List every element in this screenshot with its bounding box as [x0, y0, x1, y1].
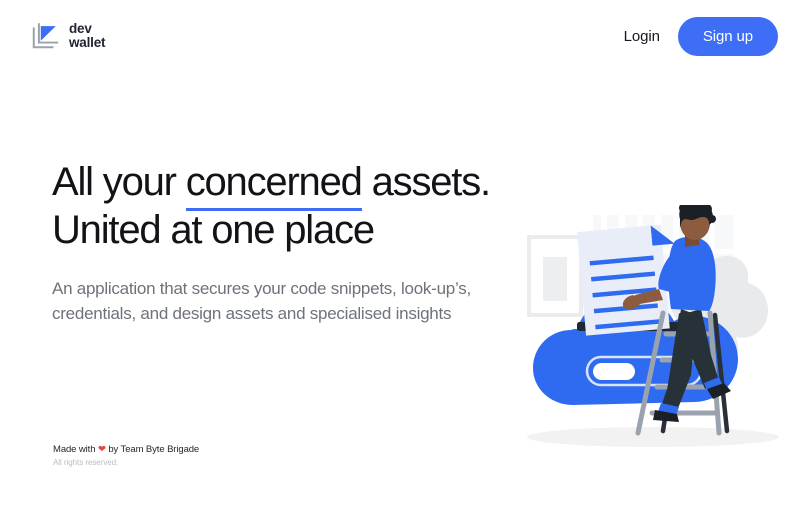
brand-wordmark: dev wallet — [69, 22, 105, 50]
background-frame — [529, 237, 581, 315]
footer-credit-prefix: Made with — [53, 444, 98, 455]
footer-credit-suffix: by Team Byte Brigade — [106, 444, 199, 455]
heart-icon: ❤ — [98, 444, 106, 455]
headline-part-before: All your — [52, 160, 186, 204]
header-nav: Login Sign up — [624, 17, 778, 56]
headline-part-after: assets. — [362, 160, 490, 204]
brand-line-1: dev — [69, 22, 105, 36]
signup-button[interactable]: Sign up — [678, 17, 778, 56]
hero-illustration — [505, 205, 800, 460]
dev-wallet-layers-icon — [30, 21, 60, 51]
ground-shadow — [527, 427, 779, 447]
footer: Made with ❤ by Team Byte Brigade All rig… — [53, 444, 199, 467]
brand-logo[interactable]: dev wallet — [30, 21, 105, 51]
brand-line-2: wallet — [69, 36, 105, 50]
page-title: All your concerned assets. United at one… — [52, 158, 522, 254]
footer-rights: All rights reserved. — [53, 458, 199, 467]
login-button[interactable]: Login — [624, 28, 660, 45]
headline-underlined-word: concerned — [186, 160, 362, 211]
landing-page: dev wallet Login Sign up All your concer… — [0, 0, 806, 524]
hero-subtitle: An application that secures your code sn… — [52, 276, 482, 326]
headline-line-2: United at one place — [52, 208, 374, 252]
site-header: dev wallet Login Sign up — [0, 0, 806, 72]
hero-section: All your concerned assets. United at one… — [52, 158, 522, 326]
footer-credit: Made with ❤ by Team Byte Brigade — [53, 444, 199, 455]
